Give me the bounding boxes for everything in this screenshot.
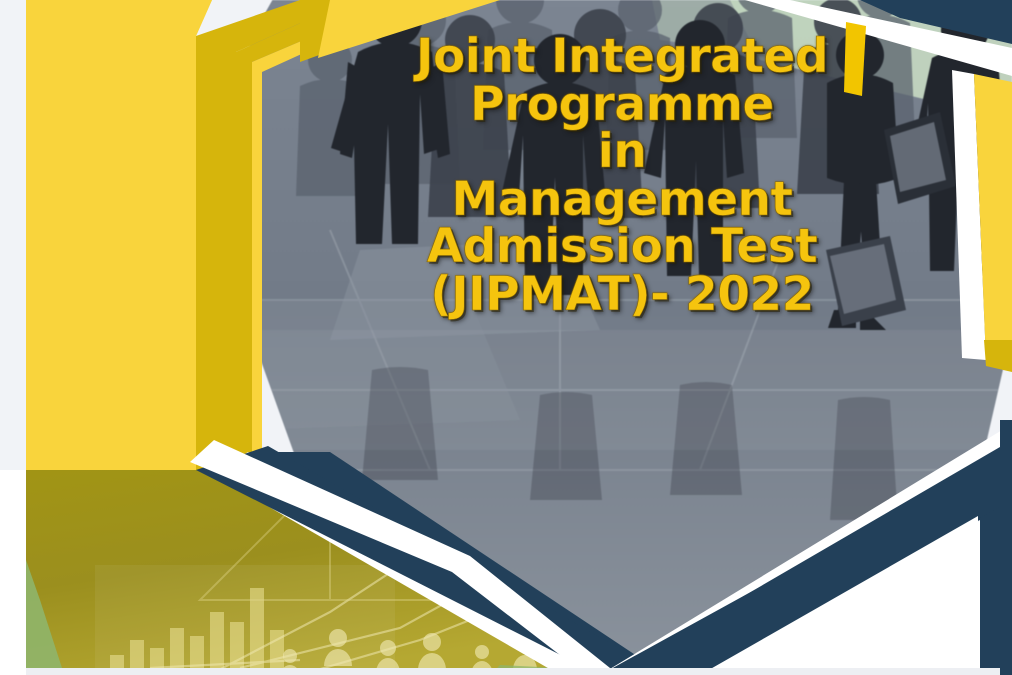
poster-canvas: Joint Integrated Programme in Management… [0, 0, 1012, 675]
yellow-inner-highlight [252, 0, 420, 470]
geometry-layer [0, 0, 1012, 675]
right-edge-navy-sliver [1000, 420, 1012, 675]
yellow-nub-top-right [844, 22, 866, 96]
mustard-frame-band [196, 0, 352, 470]
left-yellow-panel [26, 0, 212, 470]
bottom-left-white-corner [0, 470, 26, 675]
